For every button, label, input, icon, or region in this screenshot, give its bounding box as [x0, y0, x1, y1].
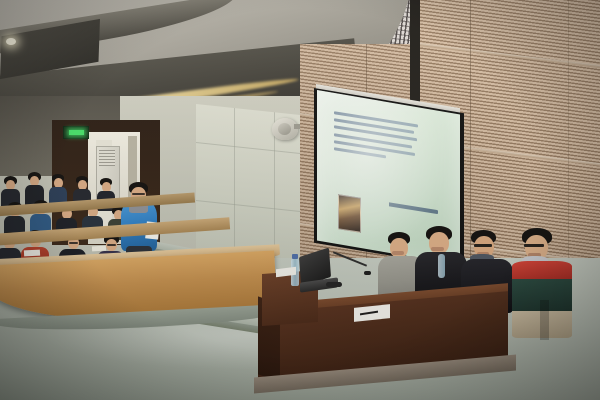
jacket-red-panel [512, 261, 572, 281]
lecture-hall-photo [0, 0, 600, 400]
panelist-4 [514, 228, 576, 338]
air-conditioner-grille-icon [99, 150, 115, 166]
ceiling-lamp-icon [6, 38, 16, 45]
slide-photo-thumbnail [338, 194, 361, 233]
smiling-mouth [392, 251, 404, 255]
notebook-on-desk [92, 246, 106, 252]
notebook-on-desk [24, 250, 40, 257]
jacket-zip [540, 300, 549, 340]
water-bottle-secondary [438, 254, 445, 278]
exit-sign-icon [63, 126, 89, 139]
wall-speaker-icon [272, 118, 298, 140]
water-bottle-cap [292, 254, 298, 259]
glasses-icon [524, 244, 544, 247]
microphone-base [326, 282, 342, 287]
glasses-icon [474, 244, 492, 247]
microphone-head-icon [364, 271, 371, 275]
